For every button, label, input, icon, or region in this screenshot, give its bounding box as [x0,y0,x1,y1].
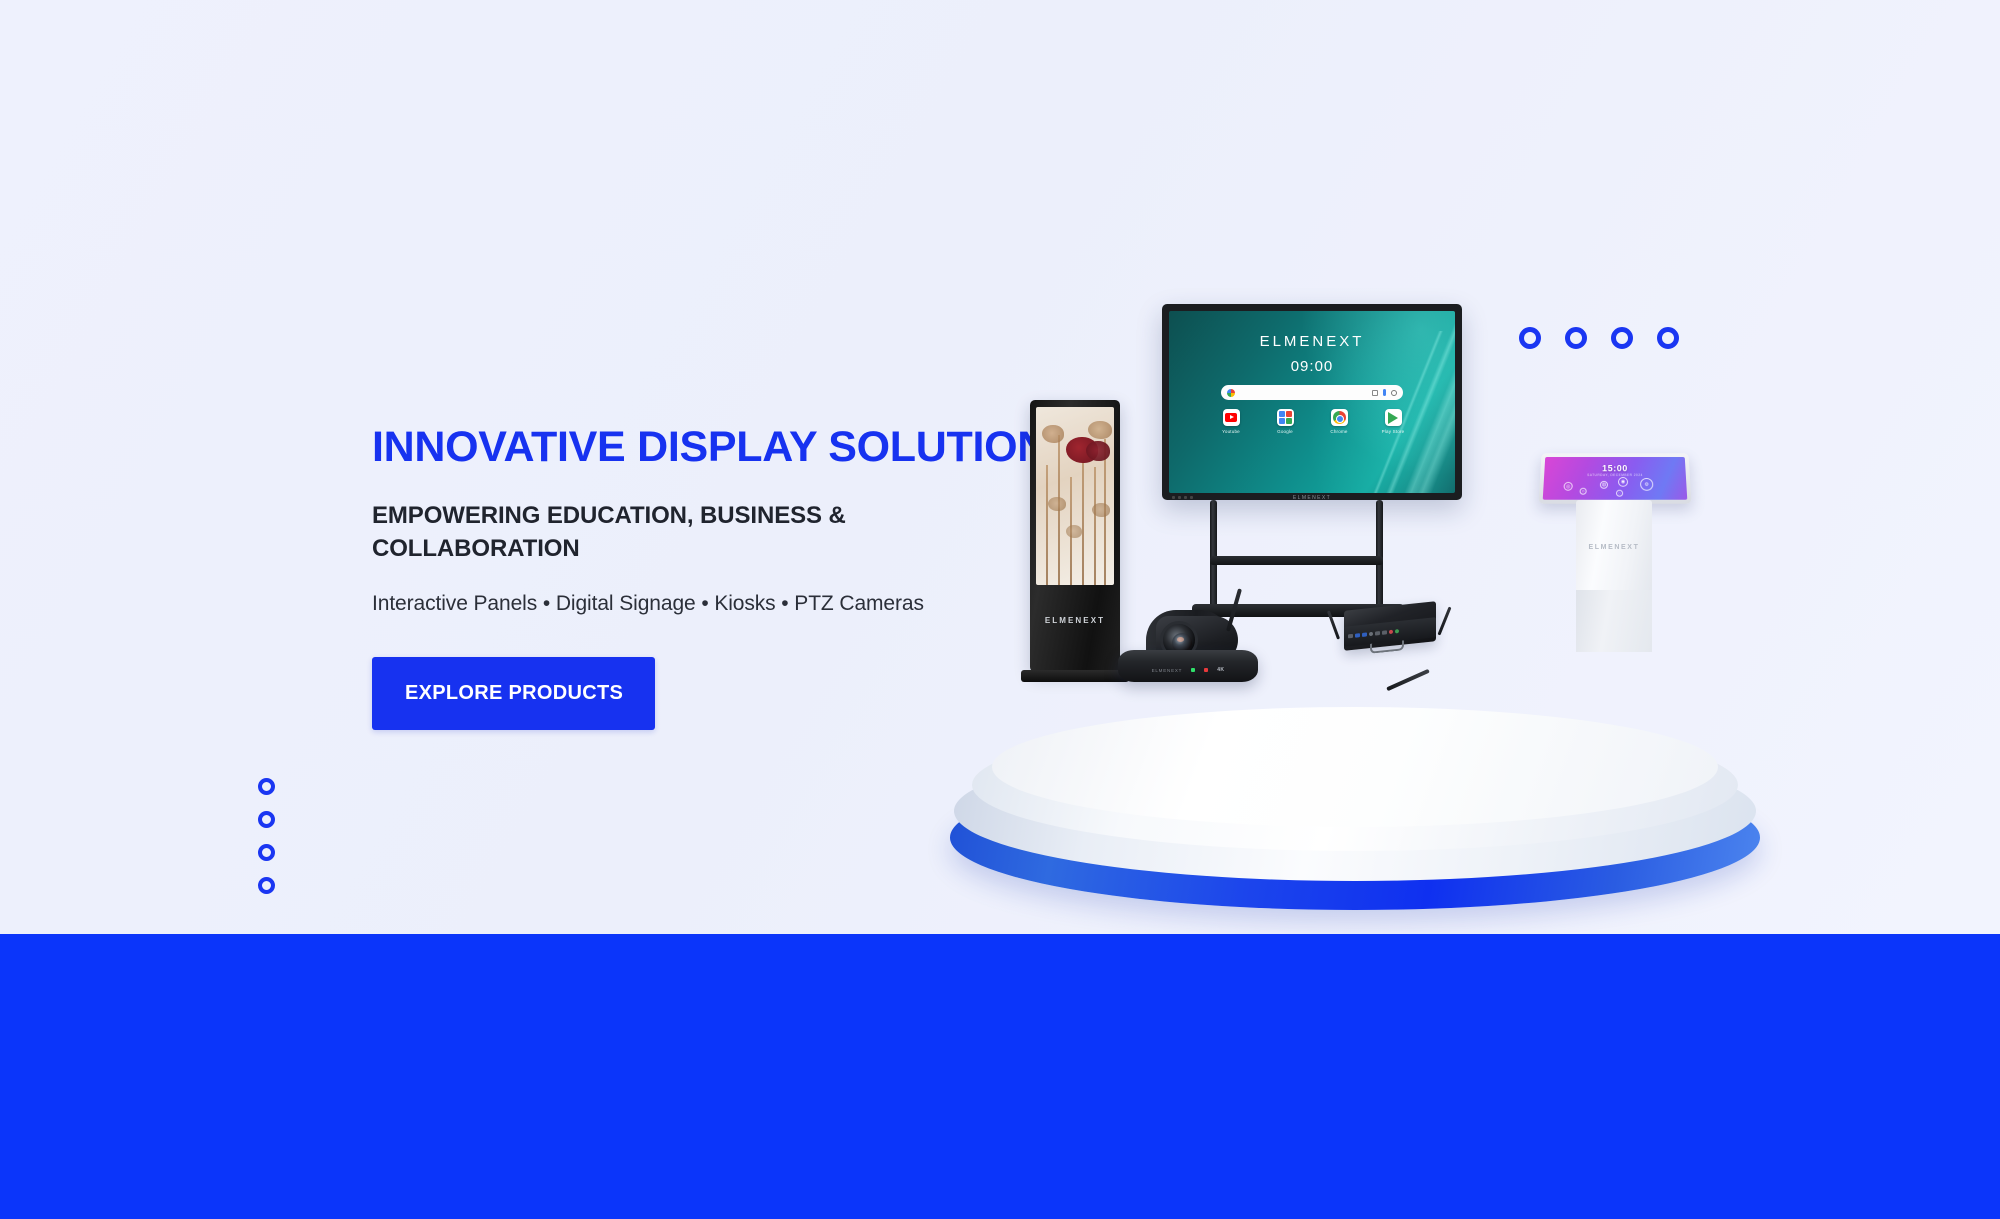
kiosk-app-icon[interactable]: ◌ [1616,490,1623,497]
status-led-red-icon [1204,668,1208,672]
decor-ring-icon [1611,327,1633,349]
ops-port-lan [1369,632,1373,636]
decor-rings-vertical [258,778,275,894]
ops-port-usb3 [1355,633,1360,638]
app-youtube[interactable]: Youtube [1214,409,1248,434]
ptz-camera-product[interactable]: ELMENEXT 4K [1118,572,1258,682]
ops-port-usb [1348,634,1353,639]
ops-port-audio-in [1389,630,1393,634]
kiosk-pedestal-lower [1576,590,1652,652]
app-chrome[interactable]: Chrome [1322,409,1356,434]
decor-rings-horizontal [1519,327,1679,349]
panel-bottom-brand: ELMENEXT [1162,493,1462,502]
panel-app-row: Youtube Google [1169,409,1455,434]
camera-base: ELMENEXT 4K [1118,650,1258,682]
kiosk-product[interactable]: 15:00 SATURDAY, DECEMBER 2024 ◎ ○ ◍ ◉ ◌ … [1530,452,1690,682]
google-logo-icon [1227,389,1235,397]
panel-bezel: ELMENEXT 09:00 Youtube [1162,304,1462,500]
ops-port-usb3 [1362,632,1367,637]
camera-front-strip: ELMENEXT 4K [1118,667,1258,673]
kiosk-app-icon[interactable]: ◉ [1618,477,1628,487]
kiosk-pedestal: ELMENEXT [1576,500,1652,652]
signage-screen [1036,407,1114,585]
kiosk-brand-label: ELMENEXT [1576,544,1652,551]
kiosk-clock-subtitle: SATURDAY, DECEMBER 2024 [1544,473,1686,477]
camera-resolution-badge: 4K [1217,667,1224,673]
ops-port-hdmi [1375,631,1380,636]
product-showcase: ELMENEXT ELMENEXT 09:00 [930,360,1780,935]
panel-search-input[interactable] [1221,385,1403,400]
search-icon[interactable] [1391,390,1397,396]
panel-screen[interactable]: ELMENEXT 09:00 Youtube [1169,311,1455,493]
decor-ring-icon [258,778,275,795]
signage-brand-label: ELMENEXT [1030,616,1120,625]
decor-ring-icon [1519,327,1541,349]
search-bar-icons [1372,389,1397,396]
app-label: Chrome [1322,429,1356,434]
google-apps-icon [1277,409,1294,426]
digital-signage-product[interactable]: ELMENEXT [1030,400,1120,672]
panel-brand-logo: ELMENEXT [1169,333,1455,350]
decor-ring-icon [258,844,275,861]
ops-mini-pc-product[interactable] [1330,600,1448,660]
app-google[interactable]: Google [1268,409,1302,434]
decor-ring-icon [258,811,275,828]
stand-shelf [1210,556,1383,565]
camera-brand-label: ELMENEXT [1152,668,1183,673]
app-label: Play Store [1376,429,1410,434]
decor-ring-icon [258,877,275,894]
kiosk-clock: 15:00 [1544,464,1685,474]
display-podium [950,735,1760,935]
chrome-icon [1331,409,1348,426]
kiosk-app-icon[interactable]: ⚙ [1640,478,1653,491]
panel-clock: 09:00 [1169,358,1455,375]
stylus-pen [1386,669,1430,691]
kiosk-app-icon[interactable]: ○ [1580,488,1587,495]
youtube-icon [1223,409,1240,426]
play-store-icon [1385,409,1402,426]
kiosk-screen-housing: 15:00 SATURDAY, DECEMBER 2024 ◎ ○ ◍ ◉ ◌ … [1538,453,1691,503]
ops-handle [1370,640,1404,654]
lower-blue-section [0,934,2000,1219]
ops-port-displayport [1382,630,1387,635]
kiosk-app-icon[interactable]: ◍ [1600,481,1608,489]
decor-ring-icon [1657,327,1679,349]
app-label: Google [1268,429,1302,434]
hero-subheadline: EMPOWERING EDUCATION, BUSINESS & COLLABO… [372,499,852,565]
app-play-store[interactable]: Play Store [1376,409,1410,434]
microphone-icon[interactable] [1383,389,1386,396]
explore-products-button[interactable]: EXPLORE PRODUCTS [372,657,655,730]
signage-body: ELMENEXT [1030,400,1120,672]
podium-top-surface [992,707,1718,827]
decor-ring-icon [1565,327,1587,349]
camera-antenna [1226,588,1242,631]
kiosk-app-icon[interactable]: ◎ [1563,482,1572,491]
kiosk-display[interactable]: 15:00 SATURDAY, DECEMBER 2024 ◎ ○ ◍ ◉ ◌ … [1543,457,1688,500]
keyboard-icon[interactable] [1372,390,1378,396]
signage-base [1021,670,1129,682]
hero-page: INNOVATIVE DISPLAY SOLUTIONS EMPOWERING … [0,0,2000,1219]
power-led-green-icon [1191,668,1195,672]
ops-port-audio-out [1395,629,1399,633]
app-label: Youtube [1214,429,1248,434]
signage-floral-artwork [1036,407,1114,585]
